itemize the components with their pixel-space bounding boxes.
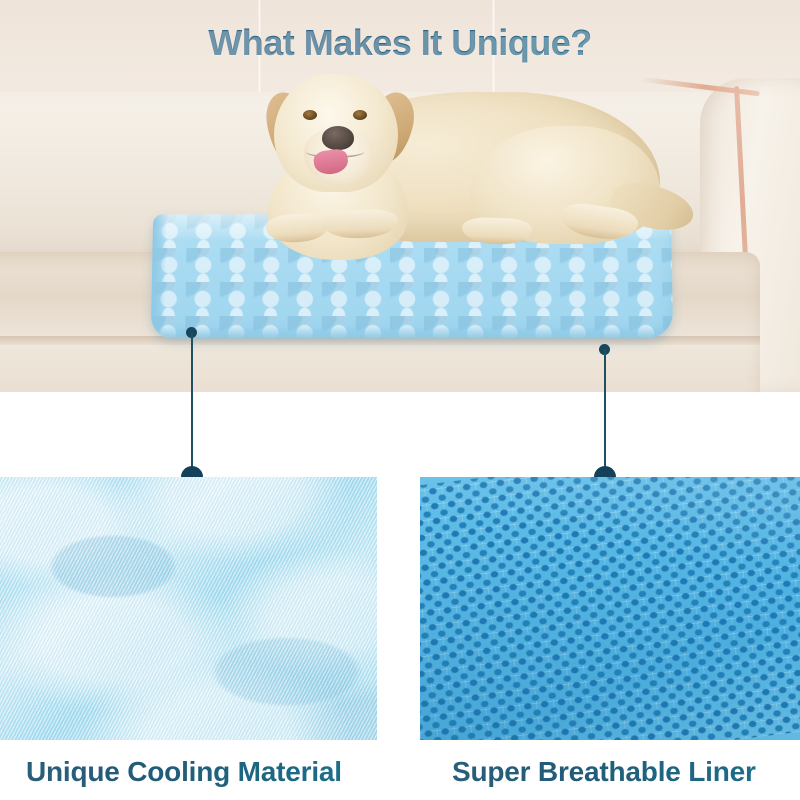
feature-caption-cooling-material: Unique Cooling Material bbox=[26, 756, 342, 788]
detail-panel-cooling-material bbox=[0, 477, 377, 740]
hero-product-photo: What Makes It Unique? bbox=[0, 0, 800, 392]
mesh-liner-shading bbox=[420, 477, 800, 740]
callout-line-cooling-material bbox=[191, 332, 193, 477]
page-title: What Makes It Unique? bbox=[0, 22, 800, 64]
infographic-page: What Makes It Unique? Unique Cooling Mat… bbox=[0, 0, 800, 800]
detail-panel-breathable-liner bbox=[420, 477, 800, 740]
dog-eye-right bbox=[353, 110, 367, 120]
feature-caption-breathable-liner: Super Breathable Liner bbox=[452, 756, 756, 788]
cooling-fabric-ribbing bbox=[0, 477, 377, 740]
callout-line-breathable-liner bbox=[604, 349, 606, 477]
dog-eye-left bbox=[303, 110, 317, 120]
